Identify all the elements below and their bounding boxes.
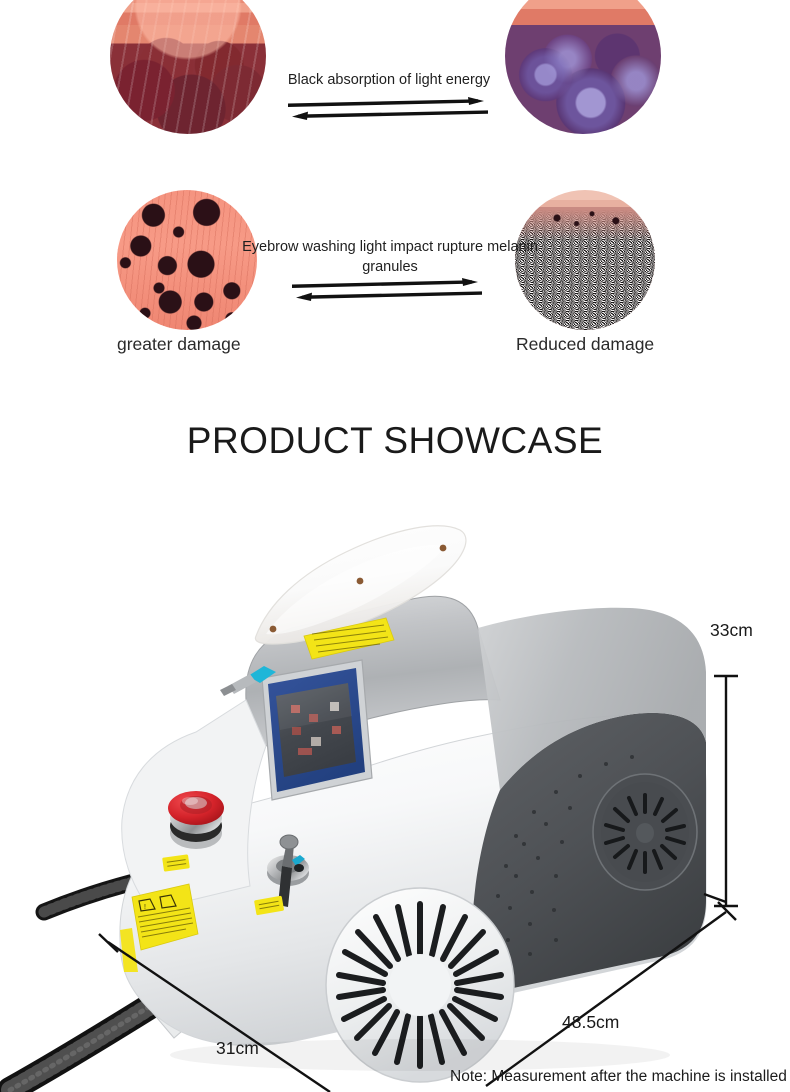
- dimension-height-label: 33cm: [710, 620, 753, 641]
- product-photo: !: [0, 0, 790, 1092]
- emergency-stop-button[interactable]: [168, 791, 224, 849]
- measurement-note: Note: Measurement after the machine is i…: [450, 1068, 787, 1086]
- dimension-depth-label: 31cm: [216, 1038, 259, 1059]
- product-showcase-page: Black absorption of light energy Eyebrow…: [0, 0, 790, 1092]
- handpiece-hose-lower-icon: [10, 1000, 160, 1090]
- dimension-width-label: 48.5cm: [562, 1012, 619, 1033]
- side-fan-grille-icon: [593, 774, 697, 890]
- svg-text:!: !: [144, 904, 146, 911]
- control-screen[interactable]: [262, 660, 372, 800]
- dimension-line-height: [704, 676, 738, 906]
